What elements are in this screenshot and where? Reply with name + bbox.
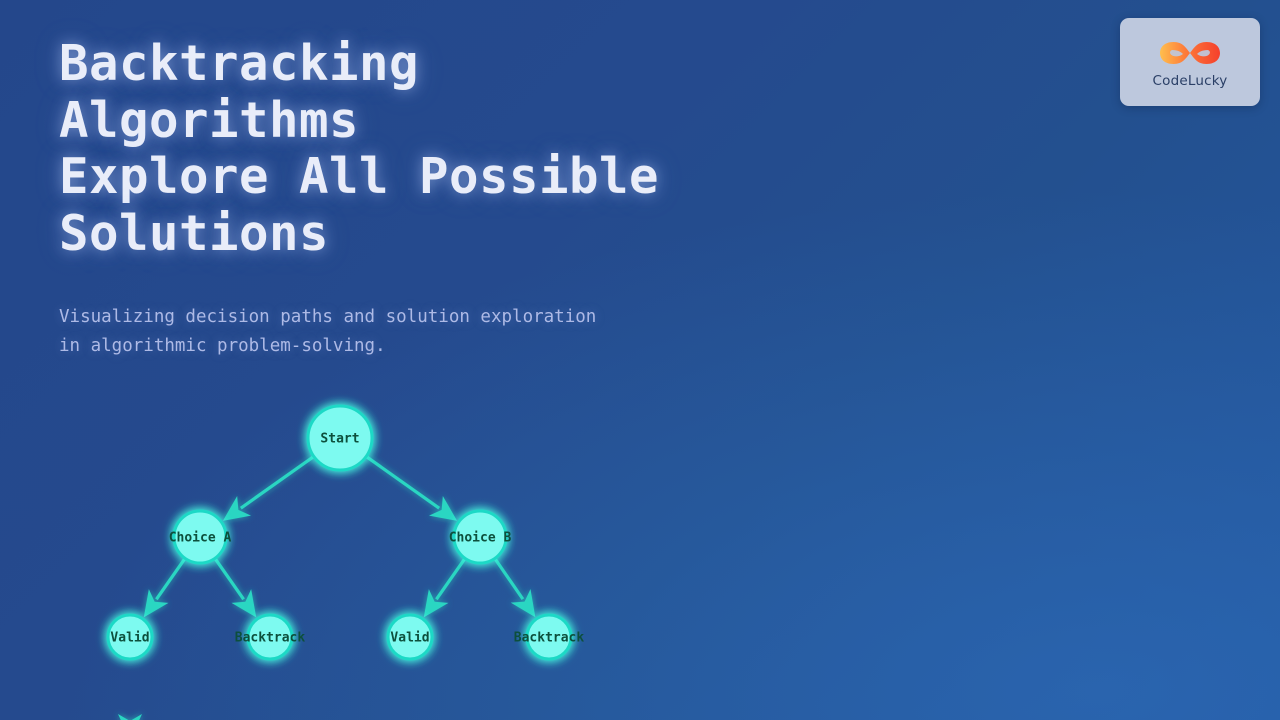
tree-edge-choice-b-valid-b — [424, 558, 465, 617]
tree-edge-choice-b-backtrack-b — [495, 558, 536, 617]
tree-nodes: StartChoice AChoice BValidBacktrackValid… — [108, 406, 584, 659]
title-line: Backtracking — [59, 36, 819, 93]
subtitle-line: Visualizing decision paths and solution … — [59, 303, 819, 332]
tree-node-backtrack-b[interactable]: Backtrack — [514, 615, 585, 659]
tree-node-label: Valid — [110, 631, 149, 646]
slide-canvas: Backtracking Algorithms Explore All Poss… — [0, 0, 1280, 720]
tree-edge-start-choice-b — [366, 456, 457, 520]
subtitle-line: in algorithmic problem-solving. — [59, 332, 819, 361]
tree-node-valid-a[interactable]: Valid — [108, 615, 152, 659]
logo-text: CodeLucky — [1153, 73, 1228, 89]
tree-node-label: Choice B — [449, 531, 512, 546]
tree-node-label: Choice A — [169, 531, 232, 546]
page-title: Backtracking Algorithms Explore All Poss… — [59, 36, 819, 262]
tree-edge-valid-a-continues — [118, 659, 142, 720]
backtracking-tree-diagram: StartChoice AChoice BValidBacktrackValid… — [0, 380, 1280, 720]
tree-edges — [118, 456, 535, 720]
tree-node-label: Backtrack — [235, 631, 306, 646]
tree-node-label: Valid — [390, 631, 429, 646]
tree-node-label: Backtrack — [514, 631, 585, 646]
tree-node-start[interactable]: Start — [308, 406, 372, 470]
tree-node-backtrack-a[interactable]: Backtrack — [235, 615, 306, 659]
tree-edge-choice-a-backtrack-a — [215, 558, 256, 617]
tree-node-choice-b[interactable]: Choice B — [449, 511, 512, 563]
title-line: Explore All Possible — [59, 149, 819, 206]
tree-edge-start-choice-a — [223, 456, 314, 520]
tree-node-choice-a[interactable]: Choice A — [169, 511, 232, 563]
tree-node-valid-b[interactable]: Valid — [388, 615, 432, 659]
tree-edge-choice-a-valid-a — [144, 558, 185, 617]
tree-node-label: Start — [320, 432, 359, 447]
infinity-icon — [1157, 37, 1223, 69]
title-line: Algorithms — [59, 93, 819, 150]
page-subtitle: Visualizing decision paths and solution … — [59, 303, 819, 361]
logo-card[interactable]: CodeLucky — [1120, 18, 1260, 106]
title-line: Solutions — [59, 206, 819, 263]
